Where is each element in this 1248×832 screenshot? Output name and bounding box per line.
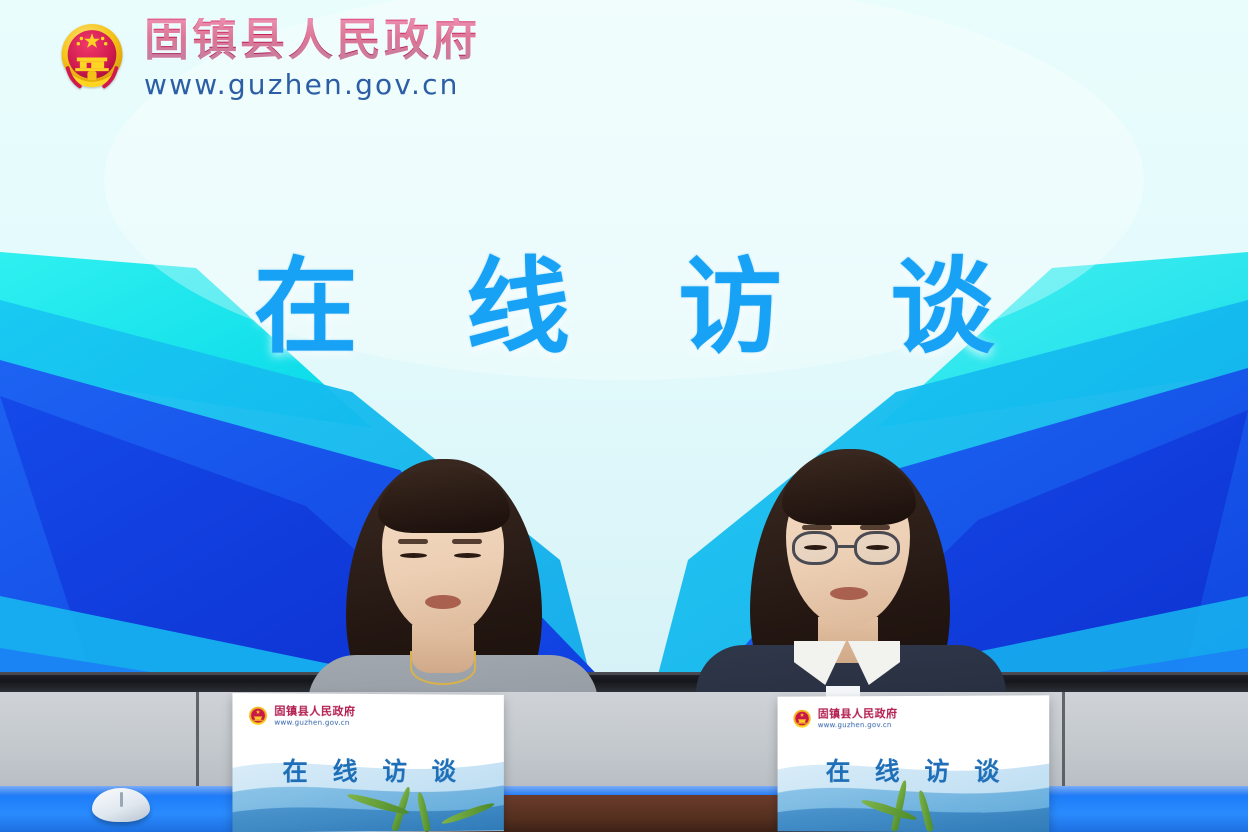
led-wall-bezel-highlight	[0, 672, 1248, 675]
desk-front-panel	[0, 692, 1248, 788]
gov-url-text: www.guzhen.gov.cn	[144, 71, 480, 99]
nameplate-url: www.guzhen.gov.cn	[818, 722, 898, 729]
desk-panel-seam-left	[196, 692, 199, 788]
mouth	[830, 587, 868, 600]
computer-mouse[interactable]	[92, 788, 150, 822]
eyebrow-left	[398, 539, 428, 544]
eyebrow-right	[452, 539, 482, 544]
nameplate-right: 固镇县人民政府 www.guzhen.gov.cn 在 线 访 谈	[778, 695, 1050, 832]
eyebrow-left	[802, 525, 832, 530]
nameplate-gov-name: 固镇县人民政府	[818, 709, 898, 720]
national-emblem-icon	[247, 705, 269, 727]
eye-right	[454, 553, 481, 558]
gov-name-text: 固镇县人民政府	[144, 18, 480, 63]
broadcast-screenshot: 固镇县人民政府 www.guzhen.gov.cn 在 线 访 谈	[0, 0, 1248, 832]
mouth	[425, 595, 461, 609]
eyebrow-right	[860, 525, 890, 530]
eye-right	[866, 545, 889, 550]
page-title: 在 线 访 谈	[0, 222, 1248, 373]
national-emblem-icon	[791, 708, 813, 730]
necklace	[410, 651, 476, 685]
nameplate-title: 在 线 访 谈	[778, 752, 1050, 788]
desk-panel-seam-right	[1062, 692, 1065, 788]
nameplate-url: www.guzhen.gov.cn	[274, 720, 355, 727]
national-emblem-icon	[54, 21, 130, 97]
eye-left	[804, 545, 827, 550]
nameplate-gov-name: 固镇县人民政府	[274, 706, 355, 717]
led-wall-bezel	[0, 672, 1248, 692]
eye-left	[400, 553, 427, 558]
gov-logo-block: 固镇县人民政府 www.guzhen.gov.cn	[54, 18, 480, 99]
nameplate-logo: 固镇县人民政府 www.guzhen.gov.cn	[247, 705, 356, 728]
glasses-bridge	[836, 545, 856, 548]
nameplate-title: 在 线 访 谈	[232, 752, 503, 788]
nameplate-logo: 固镇县人民政府 www.guzhen.gov.cn	[791, 708, 897, 730]
